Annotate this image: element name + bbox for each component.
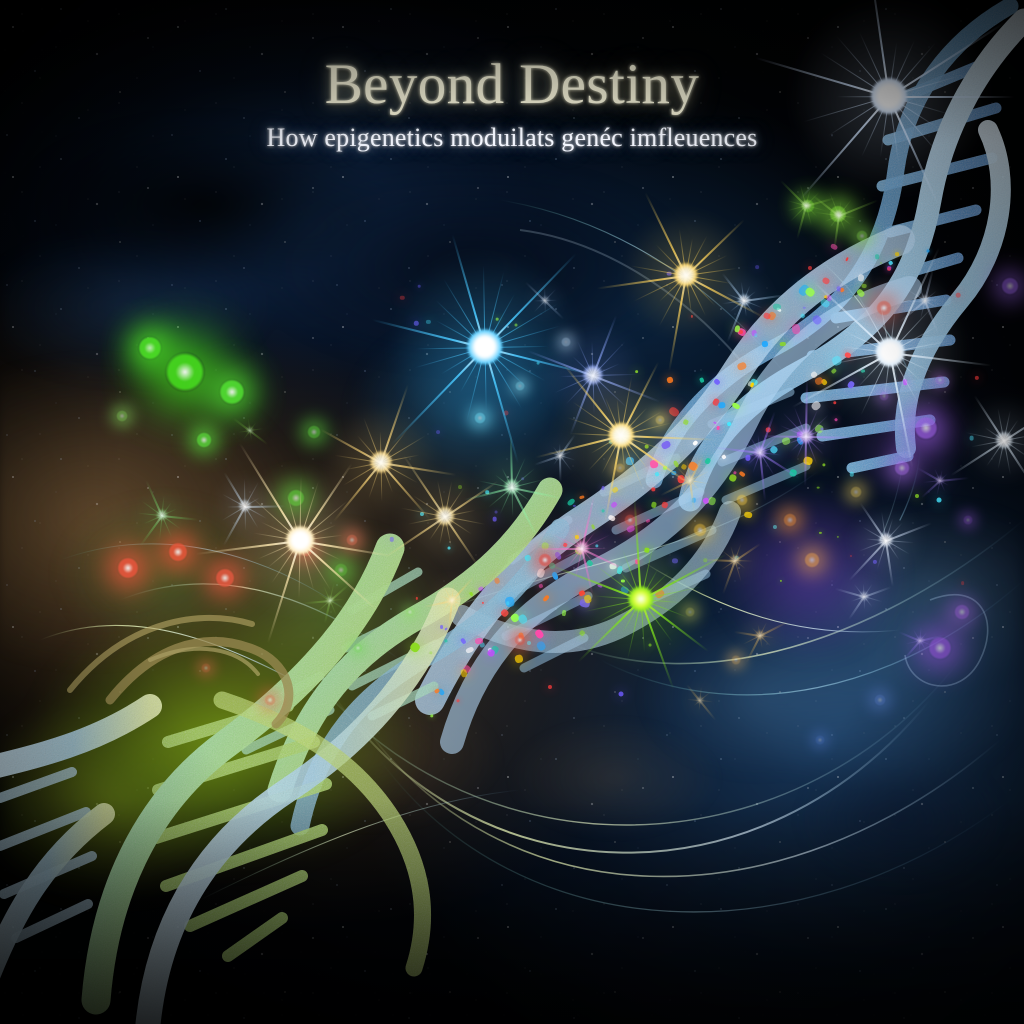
starburst-ray — [839, 215, 852, 226]
starburst-ray — [806, 197, 837, 207]
starburst-ray — [904, 300, 925, 303]
glow-orb — [1001, 277, 1019, 295]
starburst-ray — [479, 480, 512, 488]
starburst-ray — [966, 432, 1004, 441]
starburst-ray — [627, 599, 642, 659]
starburst-ray — [762, 435, 806, 438]
starburst-ray — [758, 624, 761, 635]
starburst-ray — [760, 452, 781, 456]
starburst-ray — [1003, 440, 1011, 475]
starburst-ray — [679, 229, 687, 276]
starburst-halo — [612, 201, 760, 349]
starburst-ray — [1004, 419, 1019, 441]
starburst-ray — [245, 505, 285, 508]
starburst-ray — [161, 495, 164, 515]
epigenetic-mark — [780, 342, 786, 346]
epigenetic-mark — [721, 454, 726, 459]
starburst-ray — [939, 480, 945, 491]
starburst-ray — [921, 480, 941, 498]
starburst-ray — [429, 516, 445, 540]
starburst-core — [860, 592, 868, 600]
epigenetic-mark — [839, 287, 845, 293]
starburst-ray — [743, 285, 750, 301]
starburst-ray — [594, 595, 641, 600]
starburst-halo — [535, 430, 584, 479]
starburst-ray — [721, 550, 735, 561]
epigenetic-mark — [810, 370, 819, 379]
starburst-ray — [749, 436, 760, 453]
epigenetic-mark — [505, 597, 515, 608]
sparkle-dot — [820, 428, 823, 431]
starburst-ray — [917, 283, 925, 301]
starburst-ray — [806, 205, 818, 217]
starburst-ray — [512, 487, 532, 503]
starburst-ray — [562, 363, 622, 437]
starburst-ray — [162, 515, 181, 530]
starburst-halo — [735, 610, 784, 659]
starburst-ray — [511, 458, 526, 488]
sparkle-dot — [773, 525, 777, 529]
starburst-ray — [300, 501, 348, 542]
epigenetic-mark — [767, 310, 777, 321]
starburst-core — [936, 476, 943, 483]
starburst-ray — [525, 282, 546, 302]
glow-orb — [215, 568, 235, 588]
epigenetic-mark — [649, 459, 658, 468]
starburst-ray — [759, 452, 775, 476]
glow-orb — [876, 300, 892, 316]
starburst-ray — [495, 474, 513, 488]
starburst-core — [505, 480, 519, 494]
starburst-halo — [710, 266, 778, 334]
sparkle-dot — [837, 536, 839, 538]
starburst-ray — [923, 480, 940, 483]
epigenetic-mark — [821, 378, 829, 386]
starburst-core — [448, 596, 457, 605]
starburst-ray — [299, 540, 331, 590]
helix-far-left — [0, 706, 150, 1000]
starburst-ray — [858, 540, 886, 552]
starburst-ray — [299, 540, 378, 611]
glow-orb — [165, 352, 205, 392]
starburst-ray — [890, 352, 933, 373]
starburst-ray — [582, 548, 596, 565]
epigenetic-mark — [579, 598, 590, 607]
starburst-ray — [592, 376, 594, 415]
epigenetic-mark — [620, 585, 629, 594]
starburst-ray — [544, 300, 564, 319]
glow-orb — [538, 553, 552, 567]
epigenetic-mark — [837, 286, 841, 291]
starburst-ray — [885, 518, 893, 541]
starburst-halo — [543, 357, 699, 513]
starburst-ray — [734, 543, 741, 561]
starburst-core — [467, 329, 502, 364]
starburst-ray — [925, 291, 937, 302]
glow-orb — [856, 230, 868, 242]
epigenetic-mark — [729, 474, 738, 483]
page-title: Beyond Destiny — [0, 56, 1024, 113]
epigenetic-mark — [875, 254, 880, 259]
starburst-ray — [689, 481, 695, 512]
starburst-ray — [593, 563, 641, 600]
epigenetic-mark — [736, 361, 747, 371]
starburst-ray — [239, 443, 301, 542]
epigenetic-mark — [887, 266, 891, 270]
glow-orb — [346, 534, 358, 546]
epigenetic-mark — [591, 524, 596, 530]
glow-orb — [299, 543, 313, 557]
starburst-ray — [621, 422, 671, 436]
epigenetic-mark — [776, 307, 782, 313]
starburst-ray — [622, 549, 642, 600]
sparkle-dot — [667, 271, 672, 276]
starburst-ray — [535, 435, 621, 458]
starburst-ray — [805, 205, 812, 226]
starburst-ray — [920, 634, 945, 642]
starburst-ray — [685, 219, 745, 277]
starburst-ray — [316, 600, 330, 613]
starburst-ray — [622, 599, 642, 633]
epigenetic-mark — [610, 486, 618, 494]
glow-orb — [515, 381, 525, 391]
epigenetic-mark — [479, 642, 486, 649]
starburst-ray — [621, 435, 715, 441]
starburst-core — [157, 510, 167, 520]
sparkle-dot — [819, 532, 821, 534]
epigenetic-mark — [434, 688, 440, 694]
epigenetic-mark — [763, 312, 772, 320]
starburst-ray — [485, 347, 597, 377]
starburst-ray — [597, 275, 686, 289]
starburst-ray — [925, 300, 938, 309]
starburst-halo — [807, 183, 872, 248]
starburst-ray — [483, 265, 486, 347]
starburst-halo — [955, 391, 1024, 490]
starburst-ray — [848, 596, 865, 619]
epigenetic-mark — [654, 471, 659, 477]
glow-orb — [894, 460, 910, 476]
starburst-ray — [577, 341, 594, 376]
starburst-ray — [582, 548, 607, 549]
starburst-ray — [741, 282, 745, 301]
starburst-ray — [592, 375, 610, 414]
starburst-ray — [299, 463, 352, 541]
starburst-ray — [885, 541, 894, 586]
epigenetic-mark — [708, 496, 717, 506]
starburst-ray — [403, 455, 446, 517]
starburst-ray — [699, 700, 716, 720]
starburst-ray — [659, 275, 687, 302]
poster-canvas: Beyond Destiny How epigenetics moduilats… — [0, 0, 1024, 1024]
starburst-ray — [485, 303, 559, 348]
starburst-ray — [889, 353, 913, 469]
epigenetic-mark — [797, 283, 810, 297]
epigenetic-mark — [856, 288, 866, 298]
starburst-ray — [734, 631, 760, 637]
starburst-ray — [534, 300, 545, 301]
epigenetic-mark — [617, 565, 623, 574]
epigenetic-mark — [830, 243, 839, 251]
starburst-ray — [760, 635, 774, 638]
starburst-ray — [898, 631, 920, 642]
starburst-ray — [570, 433, 621, 436]
starburst-ray — [407, 516, 445, 525]
starburst-halo — [466, 441, 557, 532]
epigenetic-mark — [620, 579, 624, 582]
sparkle-dot — [506, 601, 510, 605]
epigenetic-mark — [903, 379, 908, 385]
starburst-ray — [727, 301, 745, 343]
starburst-ray — [634, 275, 686, 301]
starburst-ray — [685, 275, 706, 316]
epigenetic-mark — [607, 514, 616, 522]
epigenetic-mark — [661, 502, 668, 509]
starburst-ray — [448, 601, 453, 630]
starburst-ray — [380, 384, 409, 464]
starburst-ray — [224, 472, 246, 507]
starburst-halo — [799, 261, 981, 443]
sparkle-dot — [850, 555, 852, 557]
starburst-ray — [484, 347, 522, 409]
epigenetic-mark — [820, 298, 831, 309]
epigenetic-mark — [861, 284, 867, 289]
starburst-ray — [569, 533, 582, 549]
starburst-ray — [790, 205, 807, 222]
sparkle-dot — [873, 560, 877, 564]
starburst-ray — [439, 516, 446, 544]
starburst-ray — [250, 422, 257, 431]
starburst-ray — [641, 553, 727, 601]
starburst-halo — [130, 483, 195, 548]
starburst-ray — [605, 398, 622, 436]
epigenetic-mark — [626, 456, 635, 465]
starburst-ray — [300, 524, 336, 541]
sparkle-dot — [595, 545, 598, 548]
starburst-ray — [442, 600, 452, 611]
starburst-core — [799, 429, 813, 443]
starburst-ray — [843, 346, 890, 353]
starburst-ray — [805, 380, 808, 437]
epigenetic-mark — [486, 648, 496, 658]
starburst-ray — [582, 531, 596, 549]
starburst-ray — [720, 560, 736, 571]
starburst-ray — [686, 275, 731, 284]
helix-lower-left — [96, 548, 448, 1024]
violet-glow-field — [0, 0, 1024, 1024]
starburst-halo — [388, 459, 502, 573]
starburst-ray — [660, 480, 690, 496]
starburst-ray — [889, 312, 895, 352]
epigenetic-mark — [493, 577, 500, 585]
starburst-ray — [380, 431, 382, 462]
starburst-ray — [838, 215, 845, 230]
starburst-core — [802, 201, 811, 210]
starburst-ray — [685, 238, 693, 275]
starburst-ray — [830, 352, 890, 365]
starburst-ray — [1003, 410, 1011, 441]
starburst-ray — [686, 268, 737, 276]
starburst-ray — [791, 436, 807, 451]
starburst-ray — [950, 440, 1004, 476]
epigenetic-mark — [677, 474, 685, 483]
starburst-core — [371, 452, 392, 473]
epigenetic-mark — [831, 356, 842, 367]
starburst-halo — [681, 681, 719, 719]
glow-orb — [655, 415, 665, 425]
sparkle-dot — [754, 334, 758, 338]
starburst-ray — [864, 586, 892, 598]
starburst-ray — [620, 377, 632, 436]
epigenetic-mark — [466, 647, 475, 654]
epigenetic-mark — [478, 586, 484, 591]
starburst-ray — [760, 433, 780, 453]
starburst-ray — [439, 595, 452, 602]
starburst-ray — [145, 480, 163, 517]
starburst-halo — [707, 532, 764, 589]
starburst-core — [921, 296, 930, 305]
starburst-ray — [381, 462, 456, 476]
starburst-halo — [231, 411, 269, 449]
starburst-halo — [213, 453, 388, 628]
epigenetic-mark — [601, 509, 605, 513]
starburst-ray — [760, 445, 781, 453]
starburst-ray — [413, 495, 445, 517]
starburst-ray — [244, 479, 246, 507]
starburst-ray — [759, 636, 762, 648]
starburst-ray — [675, 477, 690, 481]
starburst-ray — [381, 435, 426, 463]
starburst-ray — [267, 541, 301, 644]
sparkle-dot — [503, 410, 508, 415]
starburst-ray — [633, 497, 642, 600]
starburst-ray — [604, 436, 622, 521]
starburst-ray — [744, 294, 787, 302]
starburst-ray — [570, 376, 594, 435]
starburst-ray — [640, 543, 654, 600]
starburst-ray — [659, 275, 687, 325]
starburst-halo — [722, 414, 798, 490]
starburst-ray — [675, 465, 690, 481]
glow-orb — [804, 552, 820, 568]
epigenetic-mark — [889, 260, 894, 266]
glow-orb — [935, 375, 945, 385]
starburst-core — [996, 432, 1012, 448]
epigenetic-mark — [831, 368, 837, 374]
epigenetic-mark — [719, 402, 726, 408]
epigenetic-mark — [795, 436, 803, 446]
starburst-ray — [850, 596, 864, 602]
sparkle-dot — [537, 361, 540, 364]
starburst-ray — [330, 599, 344, 601]
starburst-ray — [345, 462, 381, 470]
starburst-ray — [544, 301, 545, 313]
glow-orb — [307, 425, 321, 439]
glow-orb — [168, 542, 188, 562]
epigenetic-mark — [895, 252, 900, 256]
starburst-ray — [299, 481, 319, 541]
sparkle-dot — [495, 511, 498, 514]
starburst-ray — [919, 640, 926, 651]
starburst-ray — [1003, 408, 1024, 442]
sparkle-dot — [734, 555, 739, 560]
starburst-ray — [488, 487, 512, 508]
starburst-ray — [734, 543, 761, 562]
starburst-ray — [860, 352, 890, 415]
starburst-ray — [849, 540, 887, 581]
starburst-ray — [196, 540, 301, 555]
starburst-ray — [886, 540, 910, 554]
starburst-ray — [806, 192, 820, 206]
epigenetic-mark — [551, 571, 559, 581]
glow-orb — [801, 199, 815, 213]
starburst-ray — [249, 430, 268, 445]
starburst-ray — [576, 526, 582, 549]
starburst-ray — [722, 561, 736, 595]
starburst-ray — [925, 299, 939, 301]
starburst-ray — [343, 462, 382, 486]
epigenetic-mark — [548, 562, 557, 571]
glow-orb — [874, 694, 886, 706]
starburst-ray — [668, 276, 687, 372]
starburst-ray — [690, 480, 709, 485]
sparkle-dot — [691, 315, 693, 317]
glow-orb — [196, 432, 212, 448]
starburst-ray — [641, 572, 670, 600]
epigenetic-mark — [662, 466, 667, 471]
starburst-ray — [621, 411, 662, 436]
sparkle-dot — [429, 651, 432, 654]
epigenetic-mark — [847, 380, 856, 389]
starburst-ray — [445, 510, 475, 517]
starburst-ray — [863, 597, 865, 610]
epigenetic-mark — [490, 645, 499, 655]
sparkle-dot — [458, 485, 462, 489]
epigenetic-mark — [731, 402, 741, 411]
starburst-ray — [254, 532, 300, 541]
epigenetic-mark — [409, 641, 422, 653]
starburst-ray — [368, 462, 381, 498]
starburst-ray — [547, 451, 560, 456]
starburst-ray — [330, 600, 345, 610]
epigenetic-mark — [749, 382, 754, 388]
starburst-ray — [760, 621, 789, 637]
sparkle-dot — [418, 285, 421, 288]
starburst-ray — [573, 401, 622, 436]
epigenetic-mark — [737, 327, 747, 336]
epigenetic-mark — [539, 583, 544, 588]
epigenetic-mark — [655, 589, 666, 600]
starburst-ray — [271, 540, 301, 583]
starburst-ray — [381, 430, 408, 463]
starburst-ray — [905, 640, 920, 645]
starburst-ray — [250, 428, 264, 431]
starburst-ray — [436, 300, 486, 348]
starburst-halo — [897, 272, 954, 329]
epigenetic-mark — [626, 524, 636, 533]
sparkle-dot — [496, 318, 499, 321]
starburst-ray — [567, 417, 621, 436]
starburst-ray — [917, 467, 940, 482]
starburst-ray — [357, 435, 382, 463]
starburst-ray — [618, 569, 641, 600]
starburst-ray — [550, 564, 641, 600]
helix-mid-left — [246, 490, 560, 826]
starburst-ray — [744, 300, 763, 309]
starburst-ray — [760, 635, 772, 647]
epigenetic-mark — [475, 638, 484, 645]
epigenetic-mark — [651, 501, 657, 508]
